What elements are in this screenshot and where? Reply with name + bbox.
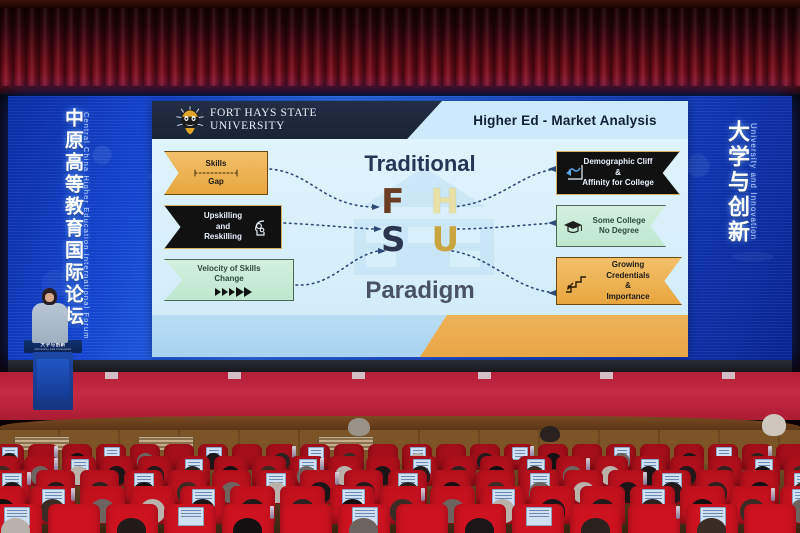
head-gears-icon bbox=[251, 219, 269, 237]
driver-growing-line1: Growing bbox=[612, 260, 644, 271]
podium bbox=[33, 352, 73, 410]
slide-header: FORT HAYS STATE UNIVERSITY Higher Ed - M… bbox=[152, 101, 688, 139]
water-bottle bbox=[676, 506, 680, 519]
driver-velocity-line1: Velocity of Skills bbox=[197, 264, 260, 275]
auditorium-scene: 中原高等教育国际论坛 Central China Higher Educatio… bbox=[0, 0, 800, 533]
slide-title: Higher Ed - Market Analysis bbox=[442, 101, 688, 139]
podium-banner-english: University and Innovation bbox=[35, 348, 72, 351]
driver-upskilling-line3: Reskilling bbox=[204, 232, 242, 243]
driver-growing-credentials[interactable]: Growing Credentials & Importance bbox=[556, 257, 682, 305]
fhsu-letter-u: U bbox=[431, 223, 459, 257]
driver-demographic-line1: Demographic Cliff bbox=[584, 157, 653, 168]
auditorium-seat bbox=[280, 504, 332, 533]
presentation-slide: FORT HAYS STATE UNIVERSITY Higher Ed - M… bbox=[152, 101, 688, 357]
driver-velocity-of-skills-change[interactable]: Velocity of Skills Change bbox=[164, 259, 294, 301]
forum-banner-left-chinese: 中原高等教育国际论坛 bbox=[62, 108, 82, 328]
slide-footer bbox=[152, 315, 688, 357]
tiger-mascot-icon bbox=[174, 104, 206, 136]
audience-member-head bbox=[540, 426, 560, 442]
driver-demographic-line2: & bbox=[615, 168, 621, 179]
driver-demographic-line3: Affinity for College bbox=[582, 178, 654, 189]
driver-upskilling-line1: Upskilling bbox=[204, 211, 242, 222]
auditorium-seat bbox=[744, 504, 796, 533]
driver-upskilling-line2: and bbox=[216, 222, 230, 233]
auditorium-seat bbox=[396, 504, 448, 533]
water-bottle bbox=[771, 488, 775, 501]
fhsu-wordmark-line2: UNIVERSITY bbox=[210, 120, 317, 133]
water-bottle bbox=[643, 472, 647, 485]
auditorium-seat bbox=[628, 504, 680, 533]
driver-growing-line3: & bbox=[625, 281, 631, 292]
water-bottle bbox=[71, 488, 75, 501]
driver-demographic-cliff[interactable]: Demographic Cliff & Affinity for College bbox=[556, 151, 680, 195]
fhsu-wordmark: FORT HAYS STATE UNIVERSITY bbox=[210, 107, 317, 132]
speaker-face bbox=[45, 293, 54, 302]
driver-velocity-line2: Change bbox=[214, 274, 243, 285]
rising-stairs-icon bbox=[565, 272, 587, 294]
audience-member-head bbox=[348, 418, 370, 436]
seat-name-card bbox=[178, 507, 204, 526]
forum-banner-left: 中原高等教育国际论坛 Central China Higher Educatio… bbox=[62, 108, 93, 340]
auditorium-seat bbox=[48, 504, 100, 533]
stage-floor-lights bbox=[0, 372, 800, 382]
declining-chart-icon bbox=[565, 164, 585, 182]
fast-forward-arrows-icon bbox=[199, 287, 259, 297]
fhsu-wordmark-line1: FORT HAYS STATE bbox=[210, 107, 317, 120]
fhsu-letter-s: S bbox=[381, 223, 406, 257]
driver-skills-gap[interactable]: Skills Gap bbox=[164, 151, 268, 195]
forum-banner-right-english: University and Innovation bbox=[749, 120, 758, 240]
fhsu-letter-f: F bbox=[381, 185, 404, 219]
driver-upskilling-reskilling[interactable]: Upskilling and Reskilling bbox=[164, 205, 282, 249]
forum-banner-left-english: Central China Higher Education Internati… bbox=[82, 108, 91, 340]
graduation-cap-icon bbox=[563, 219, 583, 235]
podium-front-panel bbox=[37, 359, 69, 399]
audience-member-head bbox=[762, 414, 786, 436]
speaker-body bbox=[32, 303, 68, 343]
driver-growing-line2: Credentials bbox=[606, 271, 650, 282]
forum-banner-right: 大学与创新 University and Innovation bbox=[726, 120, 760, 245]
driver-growing-line4: Importance bbox=[606, 292, 649, 303]
stage-curtain bbox=[0, 0, 800, 95]
water-bottle bbox=[421, 488, 425, 501]
driver-somecollege-line1: Some College bbox=[593, 216, 646, 227]
fhsu-letter-h: H bbox=[430, 185, 458, 219]
water-bottle bbox=[270, 506, 274, 519]
driver-skills-gap-line2: Gap bbox=[208, 177, 224, 188]
podium-banner: 大学与创新 University and Innovation bbox=[30, 342, 76, 351]
driver-some-college-no-degree[interactable]: Some College No Degree bbox=[556, 205, 666, 247]
water-bottle bbox=[27, 472, 31, 485]
driver-somecollege-line2: No Degree bbox=[599, 226, 639, 237]
curtain-valance bbox=[0, 0, 800, 8]
driver-skills-gap-line1: Skills bbox=[206, 159, 227, 170]
forum-banner-right-chinese: 大学与创新 bbox=[726, 120, 749, 245]
slide-footer-accent bbox=[420, 315, 688, 357]
seat-name-card bbox=[526, 507, 552, 526]
water-bottle bbox=[335, 472, 339, 485]
gap-measure-icon bbox=[192, 169, 240, 177]
